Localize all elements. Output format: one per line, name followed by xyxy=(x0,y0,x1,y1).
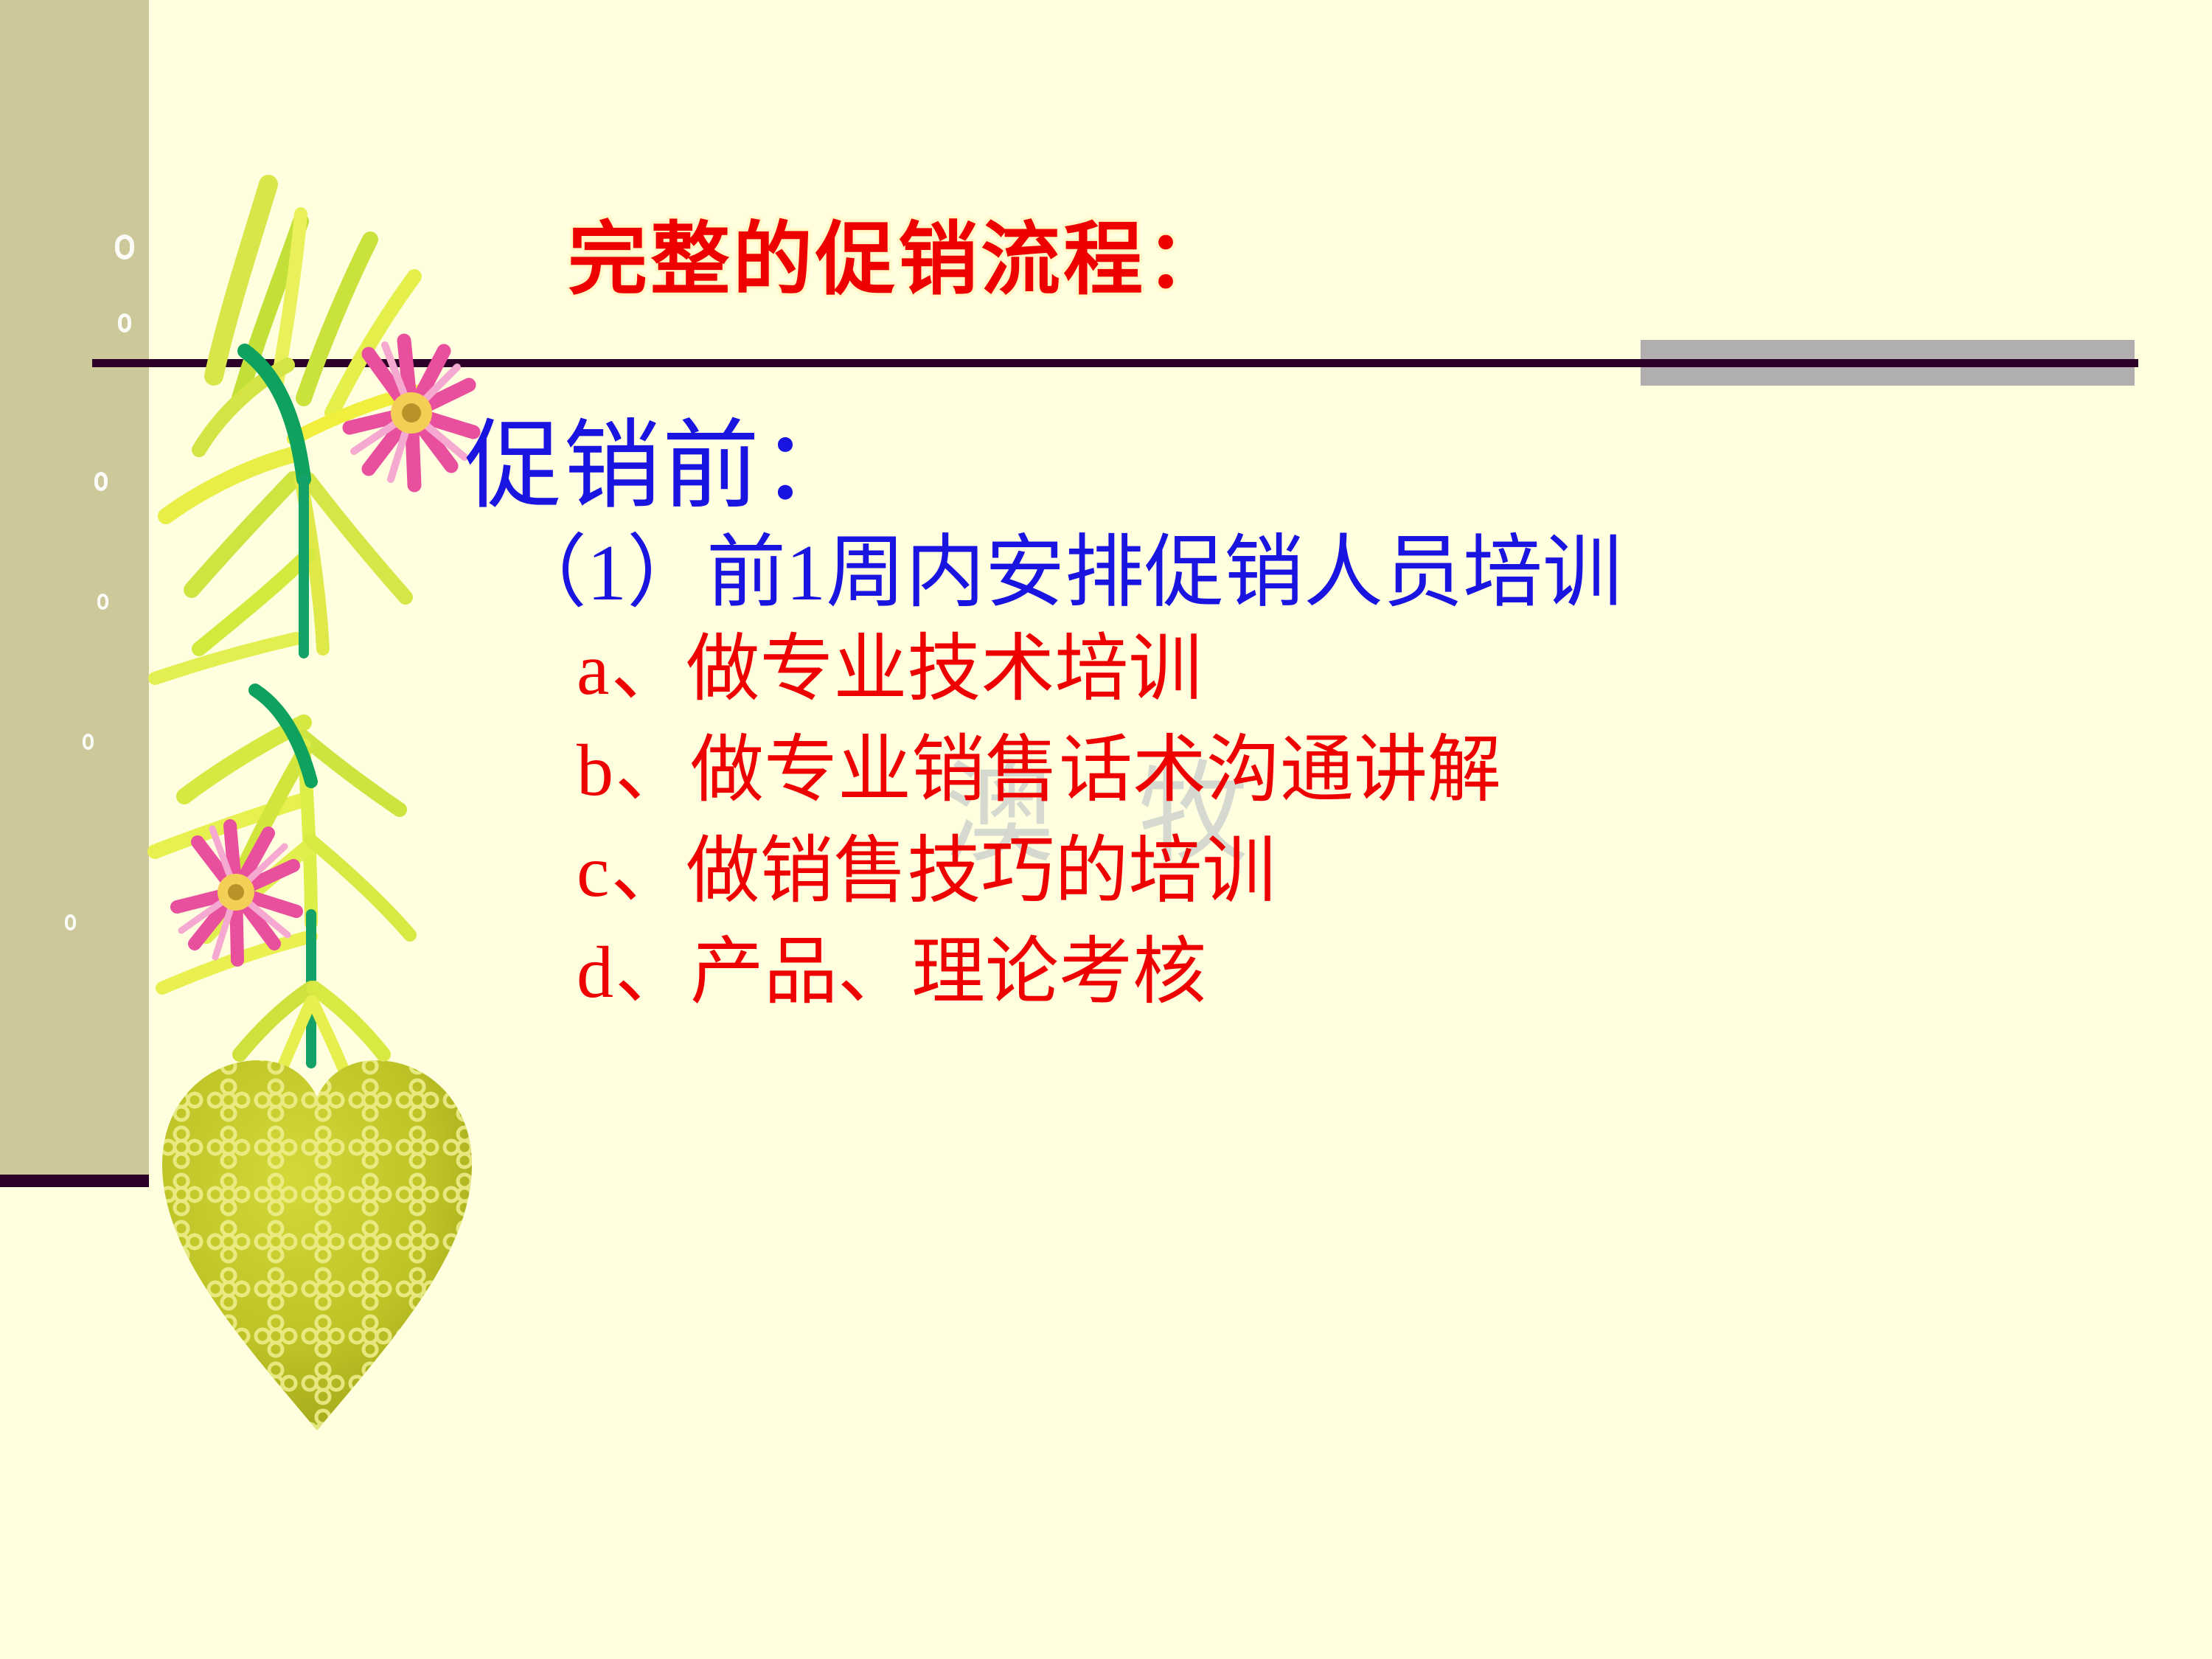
diamond-ornament-icon xyxy=(118,313,131,333)
diamond-ornament-icon xyxy=(65,914,76,931)
sidebar-footer-bar xyxy=(0,1175,149,1187)
list-item-marker: b、 xyxy=(577,729,690,811)
slide-body: 促销前： （1）前1周内安排促销人员培训 a、做专业技术培训 b、做专业销售话术… xyxy=(465,409,1622,1031)
floral-heart-decoration-icon xyxy=(111,133,524,1453)
diamond-ornament-icon xyxy=(115,234,134,260)
diamond-ornament-icon xyxy=(94,472,108,491)
list-item-label: 做专业销售话术沟通讲解 xyxy=(690,729,1501,811)
list-item-label: 产品、理论考核 xyxy=(690,931,1206,1013)
list-item-label: 做销售技巧的培训 xyxy=(686,830,1276,912)
list-item-marker: d、 xyxy=(577,931,690,1013)
header-divider-rule xyxy=(92,359,2138,367)
list-item: a、做专业技术培训 xyxy=(577,627,1622,712)
sidebar-decorative-column xyxy=(0,0,149,1175)
page-title: 完整的促销流程： xyxy=(568,195,1228,310)
list-item: c、做销售技巧的培训 xyxy=(577,829,1622,914)
heart-shape-icon xyxy=(155,1054,479,1438)
diamond-ornament-icon xyxy=(97,594,108,610)
list-item-marker: a、 xyxy=(577,628,686,710)
flower-lower xyxy=(177,826,296,960)
numbered-item: （1）前1周内安排促销人员培训 xyxy=(507,527,1622,619)
diamond-ornament-icon xyxy=(83,734,94,750)
section-heading: 促销前： xyxy=(465,409,1622,524)
list-item: b、做专业销售话术沟通讲解 xyxy=(577,728,1622,813)
slide-canvas: 澳 牧 完整的促销流程： 促销前： （1）前1周内安排促销人员培训 a、做专业技… xyxy=(0,0,2212,1659)
list-item: d、产品、理论考核 xyxy=(577,930,1622,1015)
list-item-marker: c、 xyxy=(577,830,686,912)
list-item-label: 做专业技术培训 xyxy=(686,628,1202,710)
